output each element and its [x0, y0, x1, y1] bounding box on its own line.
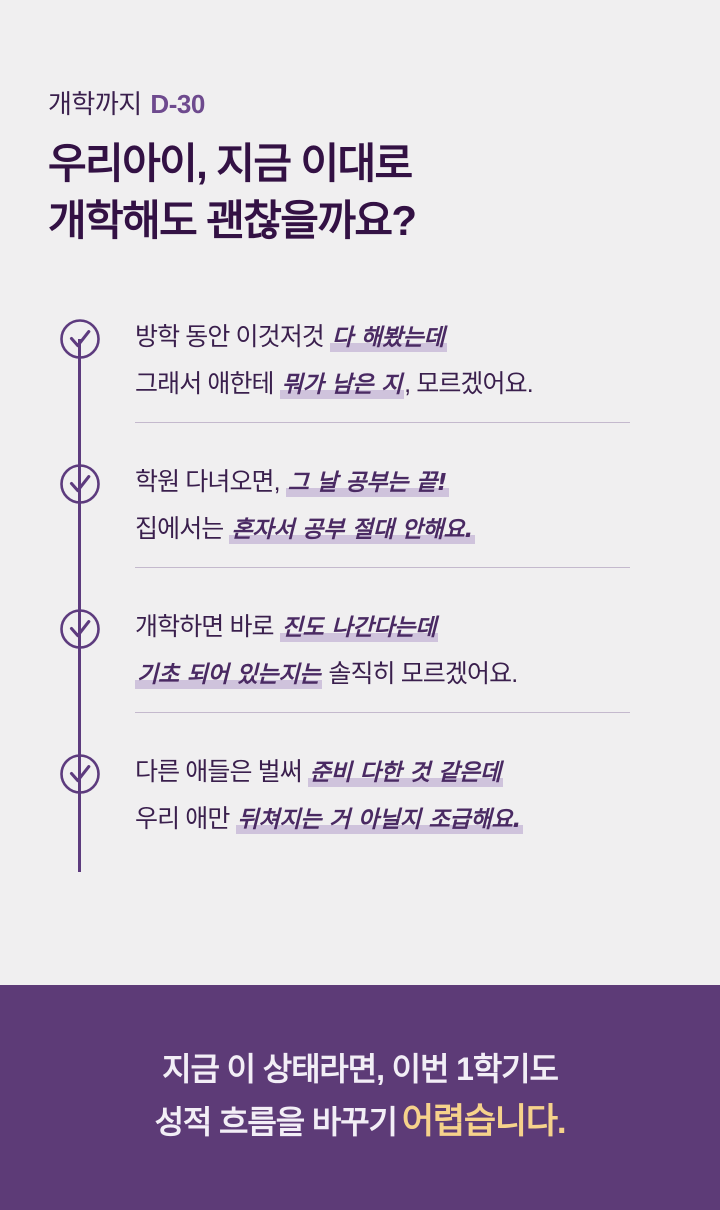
highlighted-text: 준비 다한 것 같은데	[308, 760, 503, 787]
countdown-eyebrow: 개학까지 D-30	[48, 88, 720, 121]
highlighted-text: 뒤쳐지는 거 아닐지 조급해요.	[236, 807, 523, 834]
list-item-text: 다른 애들은 벌써 준비 다한 것 같은데 우리 애만 뒤쳐지는 거 아닐지 조…	[56, 747, 720, 843]
printed-text: 방학 동안 이것저것	[135, 323, 330, 351]
list-item-line-2: 우리 애만 뒤쳐지는 거 아닐지 조급해요.	[135, 796, 720, 843]
item-divider	[135, 422, 630, 423]
check-circle-icon	[59, 463, 101, 505]
banner-line-2-lead: 성적 흐름을 바꾸기	[155, 1104, 397, 1140]
printed-text: 학원 다녀오면,	[135, 468, 286, 496]
item-divider	[135, 567, 630, 568]
concern-checklist: 방학 동안 이것저것 다 해봤는데 그래서 애한테 뭐가 남은 지, 모르겠어요…	[0, 312, 720, 867]
highlighted-text: 진도 나간다는데	[280, 615, 439, 642]
list-item: 개학하면 바로 진도 나간다는데 기초 되어 있는지는 솔직히 모르겠어요.	[56, 602, 720, 747]
printed-text: 다른 애들은 벌써	[135, 758, 308, 786]
list-item-line-2: 기초 되어 있는지는 솔직히 모르겠어요.	[135, 651, 720, 698]
list-item: 다른 애들은 벌써 준비 다한 것 같은데 우리 애만 뒤쳐지는 거 아닐지 조…	[56, 747, 720, 867]
list-item: 학원 다녀오면, 그 날 공부는 끝! 집에서는 혼자서 공부 절대 안해요.	[56, 457, 720, 602]
printed-text: 집에서는	[135, 515, 229, 543]
highlighted-text: 그 날 공부는 끝!	[286, 470, 449, 497]
banner-line-1: 지금 이 상태라면, 이번 1학기도	[162, 1045, 558, 1095]
printed-text: 개학하면 바로	[135, 613, 280, 641]
list-item-line-1: 개학하면 바로 진도 나간다는데	[135, 604, 720, 651]
check-circle-icon	[59, 608, 101, 650]
list-item-line-1: 학원 다녀오면, 그 날 공부는 끝!	[135, 459, 720, 506]
list-item-line-1: 방학 동안 이것저것 다 해봤는데	[135, 314, 720, 361]
countdown-value: D-30	[150, 89, 204, 119]
list-item-line-2: 집에서는 혼자서 공부 절대 안해요.	[135, 506, 720, 553]
highlighted-text: 혼자서 공부 절대 안해요.	[229, 517, 475, 544]
page-header: 개학까지 D-30 우리아이, 지금 이대로 개학해도 괜찮을까요?	[0, 0, 720, 249]
printed-text: 그래서 애한테	[135, 370, 280, 398]
list-item: 방학 동안 이것저것 다 해봤는데 그래서 애한테 뭐가 남은 지, 모르겠어요…	[56, 312, 720, 457]
item-divider	[135, 712, 630, 713]
countdown-label: 개학까지	[48, 89, 142, 119]
highlighted-text: 뭐가 남은 지	[280, 372, 404, 399]
printed-text: 우리 애만	[135, 805, 236, 833]
check-circle-icon	[59, 318, 101, 360]
banner-line-2: 성적 흐름을 바꾸기어렵습니다.	[155, 1095, 566, 1150]
page-title-line-2: 개학해도 괜찮을까요?	[48, 197, 416, 244]
list-item-text: 학원 다녀오면, 그 날 공부는 끝! 집에서는 혼자서 공부 절대 안해요.	[56, 457, 720, 553]
promo-page: 개학까지 D-30 우리아이, 지금 이대로 개학해도 괜찮을까요? 방학 동안…	[0, 0, 720, 1210]
check-circle-icon	[59, 753, 101, 795]
highlighted-text: 다 해봤는데	[330, 325, 447, 352]
list-item-text: 개학하면 바로 진도 나간다는데 기초 되어 있는지는 솔직히 모르겠어요.	[56, 602, 720, 698]
banner-accent-text: 어렵습니다.	[402, 1102, 566, 1141]
printed-text-trailing: 솔직히 모르겠어요.	[322, 660, 517, 688]
page-title: 우리아이, 지금 이대로 개학해도 괜찮을까요?	[48, 135, 720, 249]
page-title-line-1: 우리아이, 지금 이대로	[48, 140, 412, 187]
list-item-line-1: 다른 애들은 벌써 준비 다한 것 같은데	[135, 749, 720, 796]
list-item-line-2: 그래서 애한테 뭐가 남은 지, 모르겠어요.	[135, 361, 720, 408]
highlighted-text: 기초 되어 있는지는	[135, 662, 322, 689]
list-item-text: 방학 동안 이것저것 다 해봤는데 그래서 애한테 뭐가 남은 지, 모르겠어요…	[56, 312, 720, 408]
conclusion-banner: 지금 이 상태라면, 이번 1학기도 성적 흐름을 바꾸기어렵습니다.	[0, 985, 720, 1210]
printed-text-trailing: , 모르겠어요.	[404, 370, 533, 398]
